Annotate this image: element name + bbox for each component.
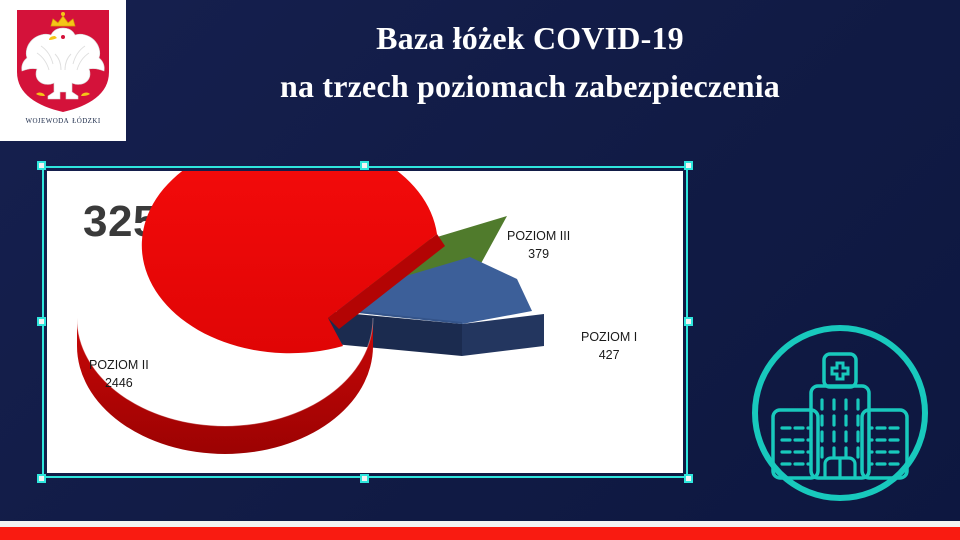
resize-handle-top-left[interactable] bbox=[37, 161, 46, 170]
resize-handle-top-center[interactable] bbox=[360, 161, 369, 170]
selection-border bbox=[42, 166, 688, 478]
resize-handle-bottom-left[interactable] bbox=[37, 474, 46, 483]
resize-handle-top-right[interactable] bbox=[684, 161, 693, 170]
title-line-2: na trzech poziomach zabezpieczenia bbox=[130, 66, 930, 107]
title-line-1: Baza łóżek COVID-19 bbox=[130, 18, 930, 59]
hospital-building-icon bbox=[745, 318, 935, 508]
resize-handle-middle-right[interactable] bbox=[684, 317, 693, 326]
chart-object[interactable]: 3252 bbox=[42, 166, 688, 478]
accent-red-bar bbox=[0, 527, 960, 540]
resize-handle-bottom-center[interactable] bbox=[360, 474, 369, 483]
resize-handle-bottom-right[interactable] bbox=[684, 474, 693, 483]
coat-of-arms-logo: Wojewoda Łódzki bbox=[0, 0, 126, 141]
logo-caption: Wojewoda Łódzki bbox=[25, 115, 100, 126]
page-title: Baza łóżek COVID-19 na trzech poziomach … bbox=[130, 18, 930, 107]
polish-eagle-icon bbox=[11, 6, 115, 114]
resize-handle-middle-left[interactable] bbox=[37, 317, 46, 326]
slide-canvas: Wojewoda Łódzki Baza łóżek COVID-19 na t… bbox=[0, 0, 960, 540]
